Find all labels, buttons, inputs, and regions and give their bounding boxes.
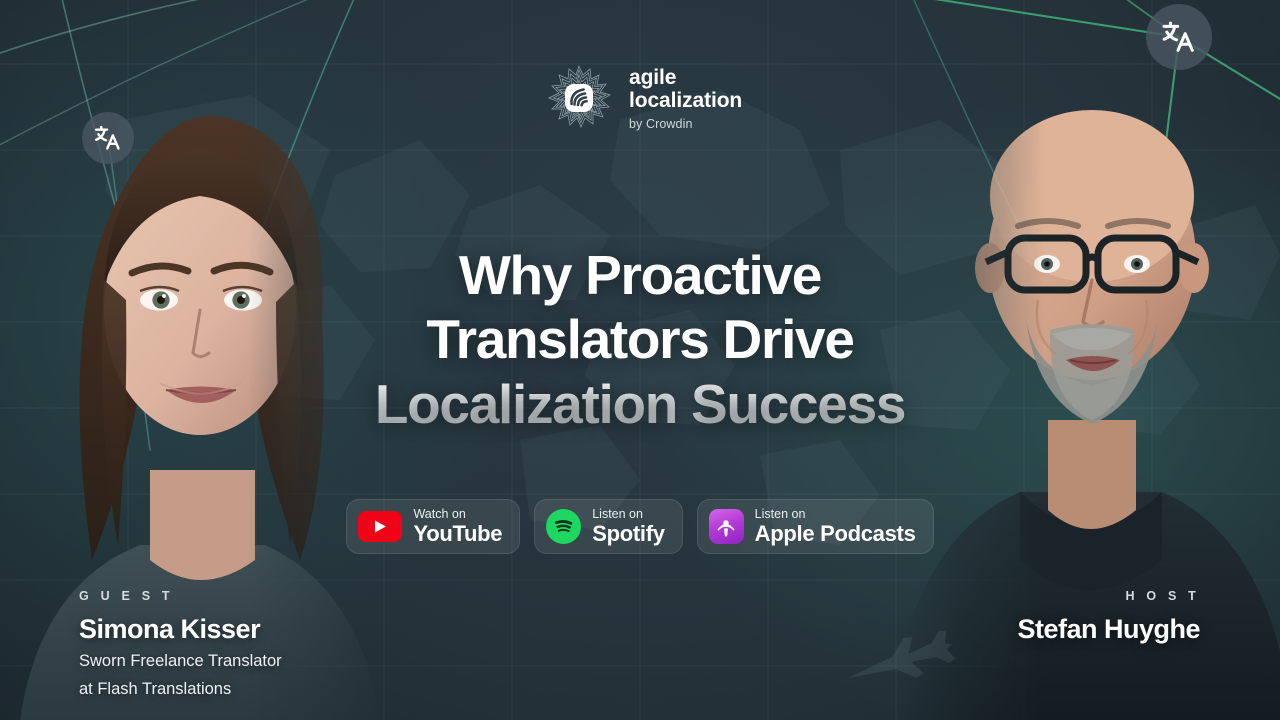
youtube-icon bbox=[358, 511, 402, 542]
spotify-button-small-label: Listen on bbox=[592, 508, 664, 521]
title-line-2: Translators Drive bbox=[0, 307, 1280, 371]
listen-on-apple-podcasts-button[interactable]: Listen on Apple Podcasts bbox=[697, 499, 934, 554]
translate-badge-right bbox=[1146, 4, 1212, 70]
apple-podcasts-button-small-label: Listen on bbox=[755, 508, 916, 521]
guest-title-line-1: Sworn Freelance Translator bbox=[79, 650, 282, 673]
guest-role-label: G U E S T bbox=[79, 589, 282, 603]
host-nameplate: H O S T Stefan Huyghe bbox=[1017, 589, 1200, 645]
brand-line-1: agile bbox=[629, 67, 742, 90]
translate-icon bbox=[1160, 18, 1198, 56]
apple-podcasts-button-label: Apple Podcasts bbox=[755, 523, 916, 545]
guest-name: Simona Kisser bbox=[79, 614, 282, 645]
brand-lockup: agile localization by Crowdin bbox=[543, 62, 742, 134]
youtube-button-label: YouTube bbox=[413, 523, 502, 545]
host-role-label: H O S T bbox=[1017, 589, 1200, 603]
spotify-button-label: Spotify bbox=[592, 523, 664, 545]
translate-icon bbox=[93, 123, 123, 153]
brand-byline: by Crowdin bbox=[629, 117, 742, 131]
watch-on-youtube-button[interactable]: Watch on YouTube bbox=[346, 499, 520, 554]
youtube-button-small-label: Watch on bbox=[413, 508, 502, 521]
crowdin-starburst-logo-icon bbox=[543, 62, 615, 134]
apple-podcasts-icon bbox=[709, 509, 744, 544]
spotify-icon bbox=[546, 509, 581, 544]
listen-buttons: Watch on YouTube Listen on Spotify bbox=[0, 499, 1280, 554]
podcast-episode-card: agile localization by Crowdin Why Proact… bbox=[0, 0, 1280, 720]
guest-title-line-2: at Flash Translations bbox=[79, 678, 282, 701]
guest-nameplate: G U E S T Simona Kisser Sworn Freelance … bbox=[79, 589, 282, 701]
listen-on-spotify-button[interactable]: Listen on Spotify bbox=[534, 499, 682, 554]
host-name: Stefan Huyghe bbox=[1017, 614, 1200, 645]
title-line-3: Localization Success bbox=[0, 372, 1280, 436]
episode-title: Why Proactive Translators Drive Localiza… bbox=[0, 243, 1280, 436]
title-line-1: Why Proactive bbox=[0, 243, 1280, 307]
brand-line-2: localization bbox=[629, 90, 742, 113]
translate-badge-left bbox=[82, 112, 134, 164]
